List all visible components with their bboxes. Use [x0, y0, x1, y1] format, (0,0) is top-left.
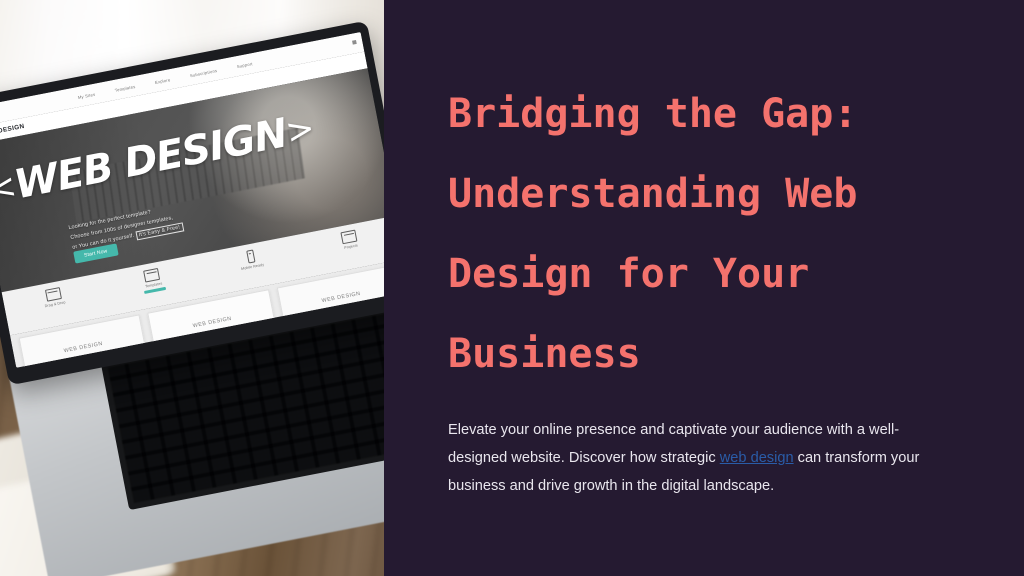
people-icon	[341, 230, 358, 245]
content-panel: Bridging the Gap: Understanding Web Desi…	[384, 0, 1024, 576]
screen-menu-icon	[352, 40, 357, 45]
layers-icon	[143, 268, 160, 283]
screen-nav-explore: Explore	[154, 77, 170, 85]
slide-root: My Sites Templates Explore Subscriptions…	[0, 0, 1024, 576]
web-design-link[interactable]: web design	[720, 450, 794, 466]
screen-feature-mobile-ready[interactable]: Mobile Ready	[224, 245, 279, 274]
phone-icon	[246, 249, 255, 263]
screen-nav-templates: Templates	[114, 83, 135, 92]
laptop-screen: My Sites Templates Explore Subscriptions…	[0, 32, 384, 368]
window-icon	[45, 287, 62, 302]
screen-feature-drag-drop[interactable]: Drag & Drop	[27, 284, 81, 312]
screen-nav-support: Support	[236, 61, 253, 69]
body-paragraph: Elevate your online presence and captiva…	[448, 416, 958, 500]
photo-panel: My Sites Templates Explore Subscriptions…	[0, 0, 384, 576]
screen-nav-subscriptions: Subscriptions	[189, 68, 217, 78]
screen-nav-my-sites: My Sites	[77, 91, 95, 99]
screen-feature-templates[interactable]: Templates	[125, 264, 180, 296]
screen-feature-projects[interactable]: Projects	[323, 226, 377, 254]
page-title: Bridging the Gap: Understanding Web Desi…	[448, 74, 958, 394]
